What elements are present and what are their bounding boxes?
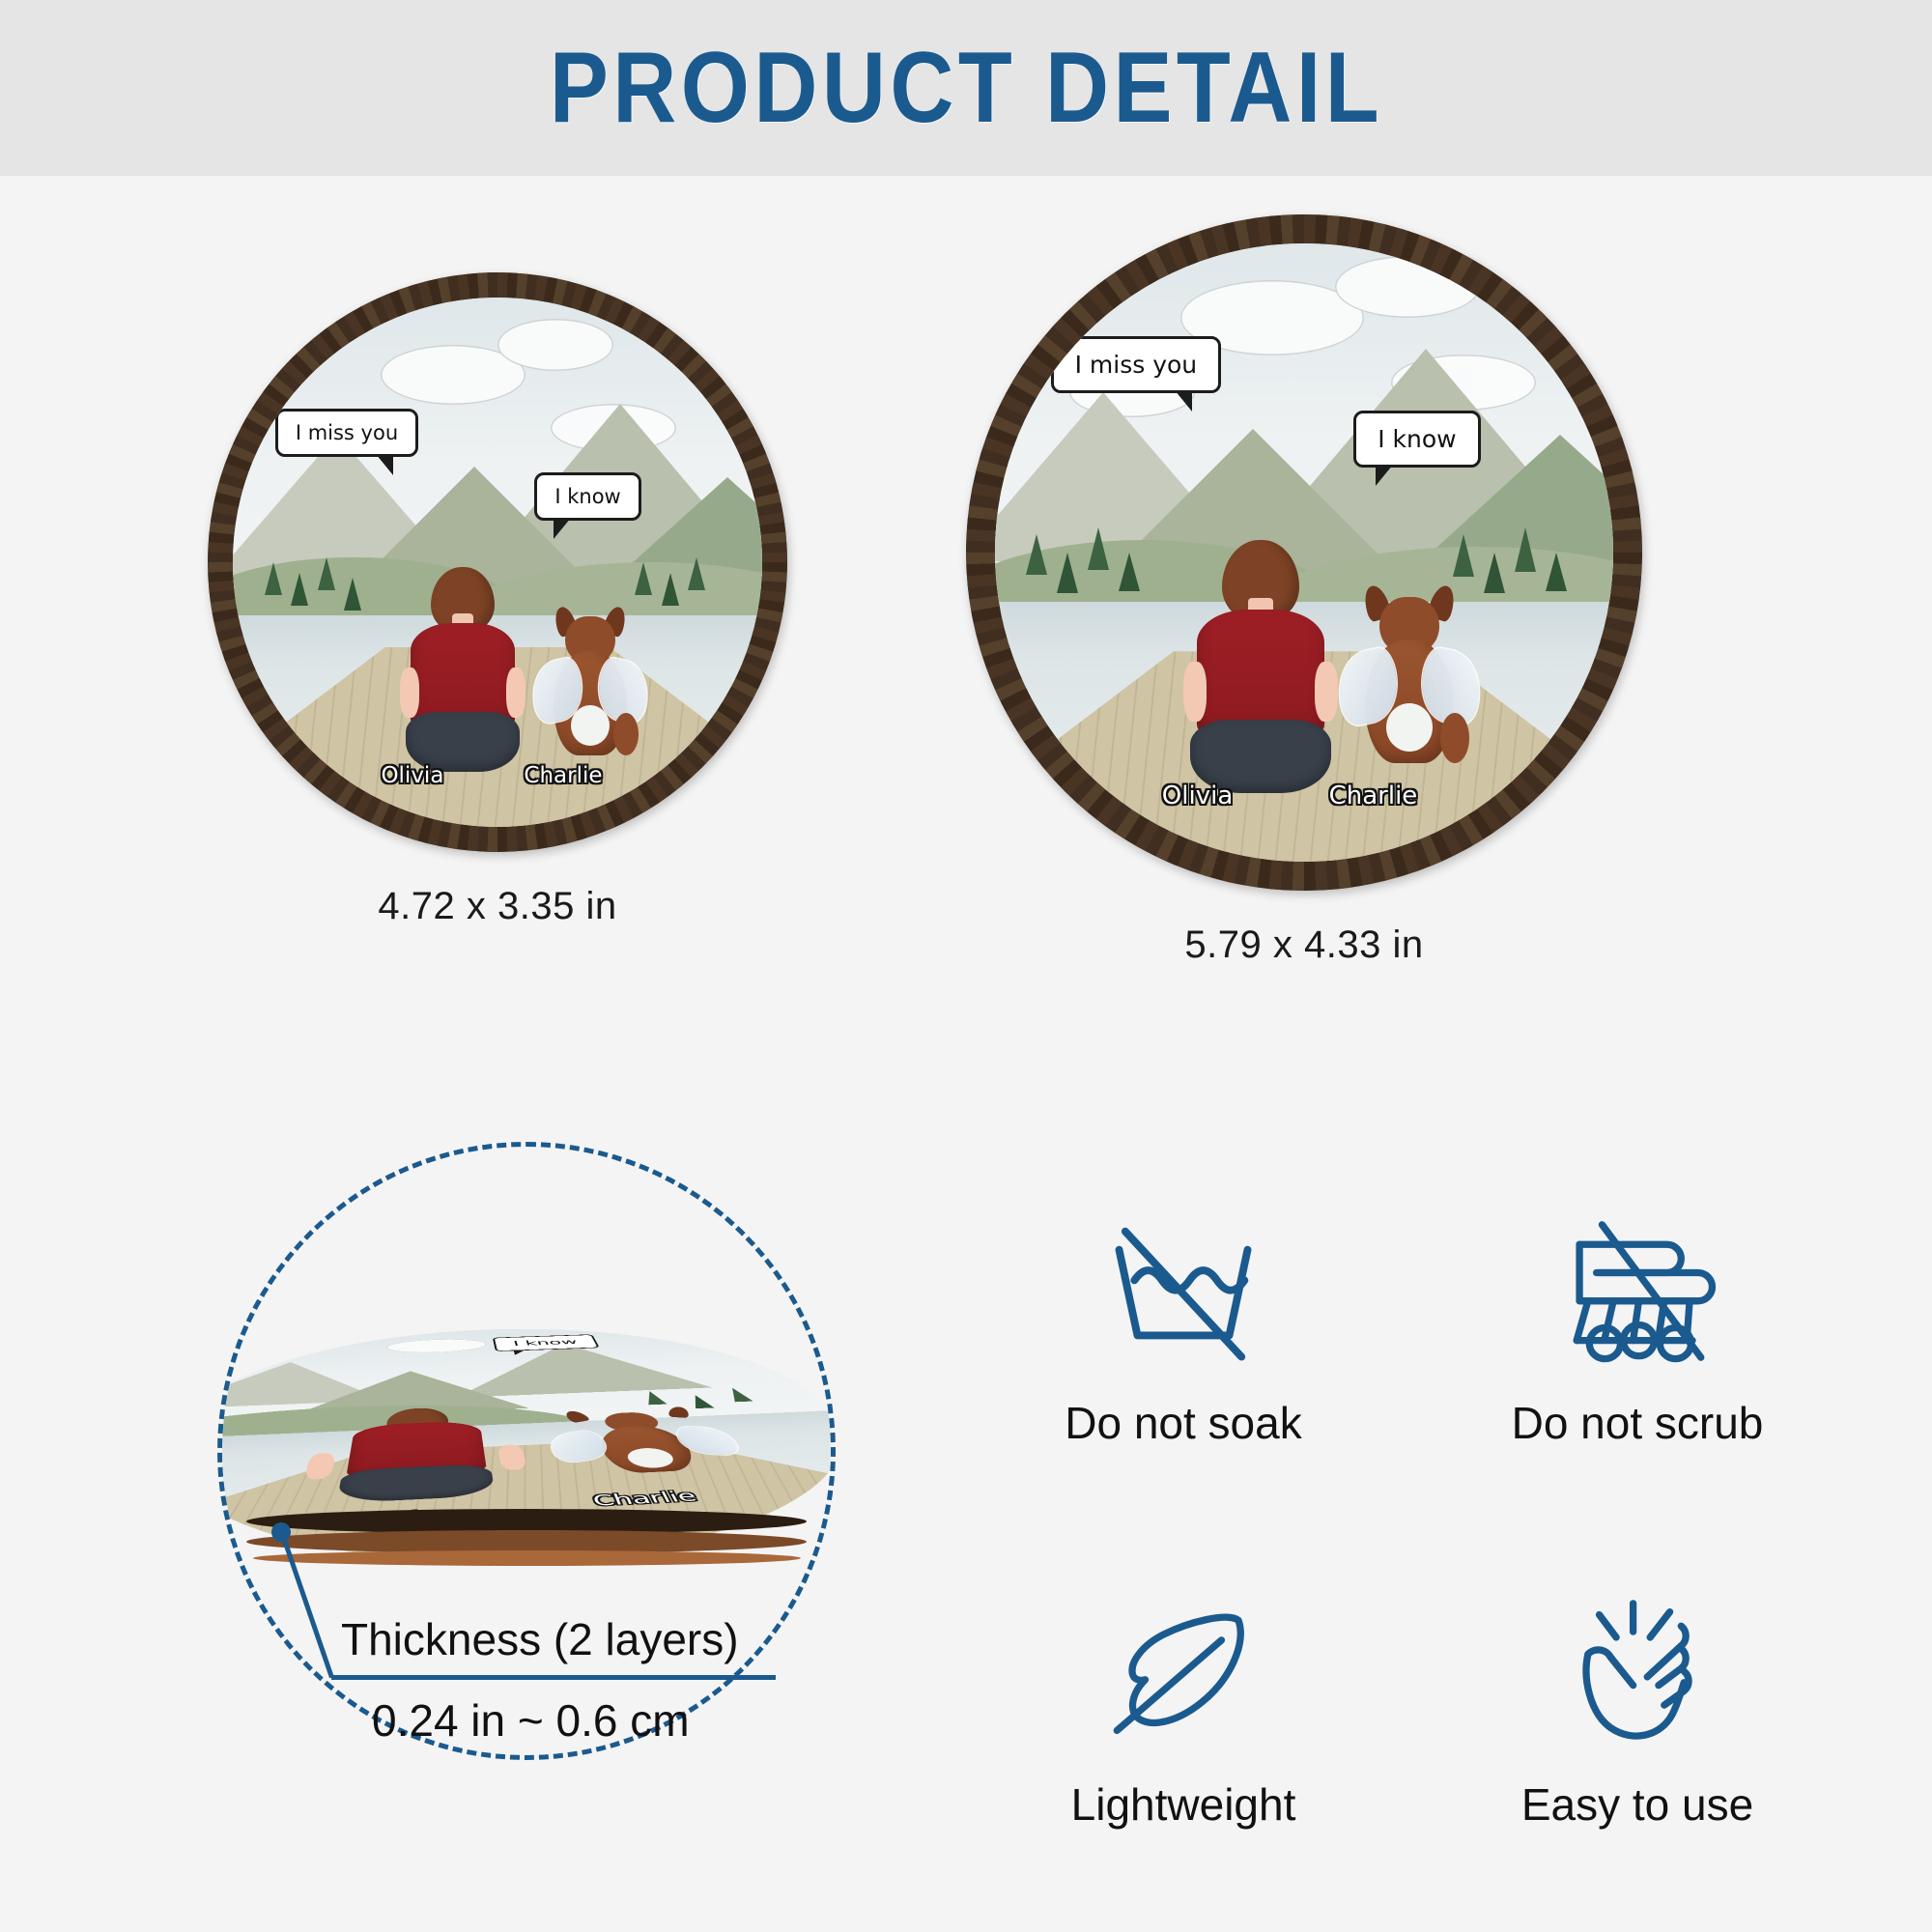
no-scrub-icon: [1546, 1207, 1729, 1376]
name-label-person: Olivia: [381, 763, 443, 788]
product-card-small: I miss you I know Olivia Charlie 4.72 x …: [184, 272, 811, 928]
speech-bubble-i-miss-you: I miss you: [275, 409, 418, 457]
disc-artwork-small: I miss you I know Olivia Charlie: [233, 298, 762, 827]
product-disc-large[interactable]: I miss you I know Olivia Charlie: [966, 214, 1642, 891]
snap-fingers-icon: [1546, 1588, 1729, 1757]
care-label: Easy to use: [1521, 1778, 1753, 1831]
care-item-do-not-scrub: Do not scrub: [1430, 1151, 1845, 1504]
size-label-small: 4.72 x 3.35 in: [184, 885, 811, 928]
care-instructions-grid: Do not soak Do not scrub: [976, 1151, 1845, 1886]
care-item-easy-to-use: Easy to use: [1430, 1533, 1845, 1886]
product-sizes-row: I miss you I know Olivia Charlie 4.72 x …: [0, 176, 1932, 1113]
care-label: Do not soak: [1065, 1397, 1301, 1449]
disc-artwork-large: I miss you I know Olivia Charlie: [995, 243, 1613, 862]
care-label: Do not scrub: [1512, 1397, 1764, 1449]
name-label-person: Olivia: [1162, 781, 1233, 810]
speech-bubble-i-know: I know: [534, 472, 640, 521]
thickness-title: Thickness (2 layers): [341, 1613, 739, 1665]
header-band: PRODUCT DETAIL: [0, 0, 1932, 176]
care-item-do-not-soak: Do not soak: [976, 1151, 1391, 1504]
bottom-section: I know Olivia Charlie Thickness (2 layer…: [0, 1113, 1932, 1915]
thickness-detail: I know Olivia Charlie Thickness (2 layer…: [217, 1142, 836, 1760]
name-label-pet: Charlie: [1329, 781, 1418, 810]
size-label-large: 5.79 x 4.33 in: [966, 923, 1642, 967]
name-label-pet: Charlie: [524, 763, 602, 788]
care-label: Lightweight: [1071, 1778, 1296, 1831]
feather-icon: [1092, 1588, 1275, 1757]
speech-bubble-i-know: I know: [1353, 411, 1480, 468]
speech-bubble-i-miss-you: I miss you: [1051, 336, 1222, 393]
care-item-lightweight: Lightweight: [976, 1533, 1391, 1886]
product-disc-small[interactable]: I miss you I know Olivia Charlie: [208, 272, 787, 852]
layer-edge-bottom: [253, 1550, 801, 1566]
page-title: PRODUCT DETAIL: [549, 31, 1382, 146]
no-soak-icon: [1092, 1207, 1275, 1376]
product-card-large: I miss you I know Olivia Charlie 5.79 x …: [966, 214, 1642, 967]
thickness-value: 0.24 in ~ 0.6 cm: [372, 1694, 690, 1747]
